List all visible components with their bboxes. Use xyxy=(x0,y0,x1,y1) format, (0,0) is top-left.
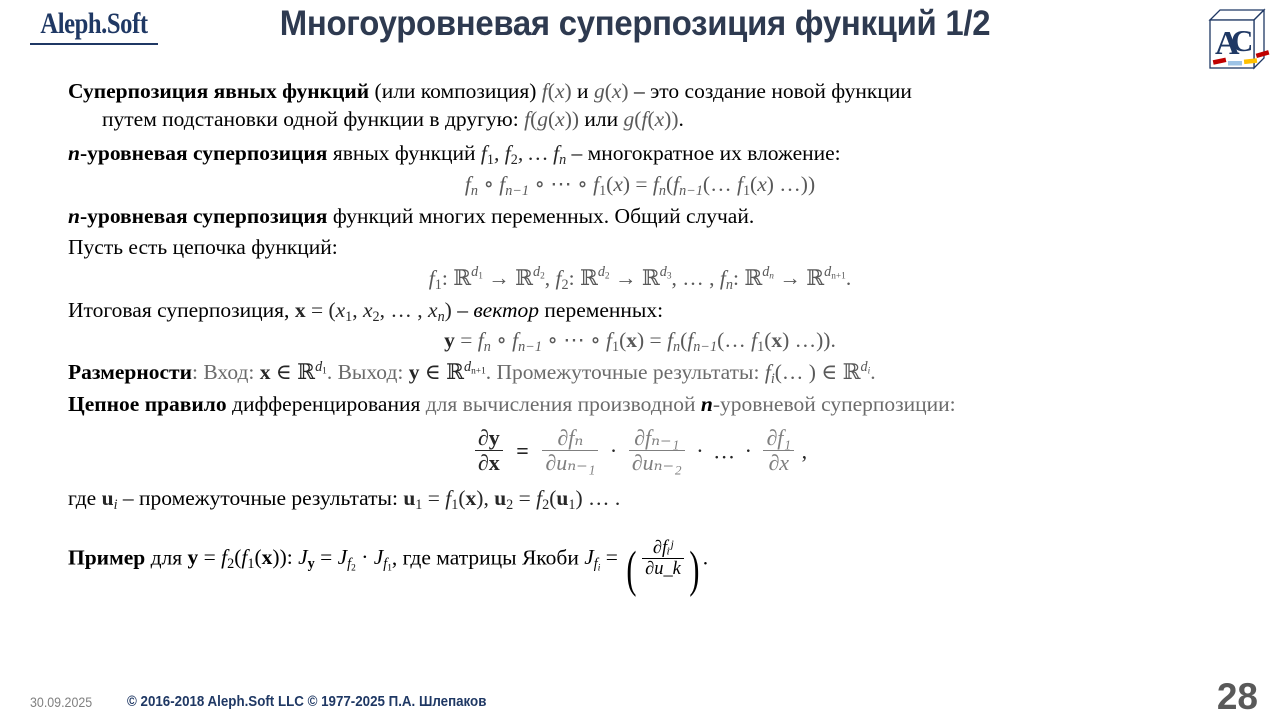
paragraph-n-level-explicit: n-уровневая суперпозиция явных функций f… xyxy=(0,140,1280,168)
p3-bold-n: n xyxy=(68,204,80,228)
p9-jacobian-fraction: ∂fᵢʲ∂u_k xyxy=(642,538,684,579)
eq4-equals: = xyxy=(510,438,535,463)
eq4-lhs-den: ∂x xyxy=(475,450,503,475)
p6-bold-lead: Размерности xyxy=(68,360,192,384)
p2-math-list: f1, f2, … fn xyxy=(481,141,566,165)
slide-footer: 30.09.2025 © 2016-2018 Aleph.Soft LLC © … xyxy=(0,676,1280,720)
p7-text-a: дифференцирования xyxy=(227,392,426,416)
p2-bold-n: n xyxy=(68,141,80,165)
equation-composition-vector: y = fn ∘ fn−1 ∘ ⋯ ∘ f1(x) = fn(fn−1(… f1… xyxy=(0,328,1280,353)
p1-bold-lead: Суперпозиция явных функций xyxy=(68,79,369,103)
p3-bold-rest: -уровневая суперпозиция xyxy=(80,204,327,228)
p9-math-jacobian-product: Jy = Jf2 · Jf1 xyxy=(298,545,392,569)
svg-text:C: C xyxy=(1231,23,1253,58)
eq4-t1-den: ∂uₙ₋₁ xyxy=(542,450,598,475)
eq3-math: y = fn ∘ fn−1 ∘ ⋯ ∘ f1(x) = fn(fn−1(… f1… xyxy=(444,328,836,352)
p6-text-d: . xyxy=(870,360,875,384)
p1-cont-text-2: или xyxy=(579,107,624,131)
p2-text-a: явных функций xyxy=(327,141,480,165)
footer-copyright: © 2016-2018 Aleph.Soft LLC © 1977-2025 П… xyxy=(127,694,486,710)
p6-text-c: . Промежуточные результаты: xyxy=(486,360,765,384)
p6-text-b: . Выход: xyxy=(327,360,409,384)
p6-math-out: y ∈ ℝdn+1 xyxy=(409,360,486,384)
p1-cont-math-1: f(g(x)) xyxy=(524,107,579,131)
p5-dash: – xyxy=(452,298,474,322)
eq4-lhs-fraction: ∂y ∂x xyxy=(475,426,503,475)
paragraph-example: Пример для y = f2(f1(x)): Jy = Jf2 · Jf1… xyxy=(0,538,1280,587)
equation-function-chain-spaces: f1: ℝd1 → ℝd2, f2: ℝd2 → ℝd3, … , fn: ℝd… xyxy=(0,266,1280,291)
p5-italic: вектор xyxy=(473,298,539,322)
eq4-t3-den: ∂x xyxy=(763,450,794,475)
p1-cont-math-2: g(f(x)) xyxy=(624,107,679,131)
paragraph-n-level-multivar: n-уровневая суперпозиция функций многих … xyxy=(0,203,1280,231)
eq4-t3-num: ∂f₁ xyxy=(763,426,794,450)
p9-math-jac-def: Jfi = xyxy=(584,545,623,569)
brand-logo-text: Aleph.Soft xyxy=(28,8,159,40)
equation-chain-rule: ∂y ∂x = ∂fₙ ∂uₙ₋₁ · ∂fₙ₋₁ ∂uₙ₋₂ · … · ∂f… xyxy=(0,426,1280,475)
p6-math-mid: fi(… ) ∈ ℝdi xyxy=(765,360,870,384)
eq4-dot-2: · xyxy=(692,438,707,463)
p9-math-y: y = f2(f1(x)): xyxy=(188,545,293,569)
eq4-term2-fraction: ∂fₙ₋₁ ∂uₙ₋₂ xyxy=(629,426,685,475)
p8-text-b: – промежуточные результаты: xyxy=(118,486,404,510)
slide-content: Суперпозиция явных функций (или композиц… xyxy=(0,78,1280,594)
eq4-t2-den: ∂uₙ₋₂ xyxy=(629,450,685,475)
eq4-dot-1: · xyxy=(606,438,621,463)
p1-text-a: (или композиция) xyxy=(369,79,542,103)
paragraph-dimensions: Размерности: Вход: x ∈ ℝd1. Выход: y ∈ ℝ… xyxy=(0,359,1280,387)
p9-frac-num: ∂fᵢʲ xyxy=(642,538,684,558)
eq4-comma: , xyxy=(802,438,808,463)
eq2-math: f1: ℝd1 → ℝd2, f2: ℝd2 → ℝd3, … , fn: ℝd… xyxy=(429,266,851,290)
eq1-math: fn ∘ fn−1 ∘ ⋯ ∘ f1(x) = fn(fn−1(… f1(x) … xyxy=(465,172,815,196)
p8-math-eq: u1 = f1(x), u2 = f2(u1) … . xyxy=(403,486,620,510)
aleph-soft-logo: Aleph.Soft xyxy=(14,8,174,45)
slide-number: 28 xyxy=(1217,676,1258,718)
page-title: Многоуровневая суперпозиция функций 1/2 xyxy=(217,4,1054,44)
p8-text-a: где xyxy=(68,486,102,510)
p9-text-a: для xyxy=(145,545,187,569)
p1-continuation: путем подстановки одной функции в другую… xyxy=(68,106,1232,134)
p6-math-in: x ∈ ℝd1 xyxy=(260,360,327,384)
eq4-t1-num: ∂fₙ xyxy=(542,426,598,450)
paragraph-chain-rule: Цепное правило дифференцирования для выч… xyxy=(0,391,1280,419)
equation-composition-1d: fn ∘ fn−1 ∘ ⋯ ∘ f1(x) = fn(fn−1(… f1(x) … xyxy=(0,172,1280,197)
p1-text-c: – это создание новой функции xyxy=(629,79,912,103)
p1-math-g: g(x) xyxy=(594,79,629,103)
p1-text-b: и xyxy=(572,79,594,103)
p7-text-c: -уровневой суперпозиции: xyxy=(713,392,956,416)
eq4-lhs-num: ∂y xyxy=(475,426,503,450)
p8-math-u: ui xyxy=(102,486,118,510)
eq4-dot-3: · xyxy=(741,438,756,463)
eq4-ellipsis: … xyxy=(713,438,735,463)
p2-text-b: – многократное их вложение: xyxy=(566,141,841,165)
paragraph-final-superposition: Итоговая суперпозиция, x = (x1, x2, … , … xyxy=(0,297,1280,325)
p7-bold-n: n xyxy=(701,392,713,416)
paragraph-chain-intro: Пусть есть цепочка функций: xyxy=(0,234,1280,262)
paragraph-superposition-def: Суперпозиция явных функций (или композиц… xyxy=(0,78,1280,133)
p3-text: функций многих переменных. Общий случай. xyxy=(327,204,754,228)
p5-text-a: Итоговая суперпозиция, xyxy=(68,298,295,322)
slide-header: Aleph.Soft Многоуровневая суперпозиция ф… xyxy=(0,0,1280,76)
ac-cube-logo: A C xyxy=(1202,2,1272,76)
p6-text-a: : Вход: xyxy=(192,360,260,384)
p7-text-b: для вычисления производной xyxy=(426,392,701,416)
p5-text-b: переменных: xyxy=(539,298,663,322)
p9-frac-den: ∂u_k xyxy=(642,558,684,579)
p2-bold-rest: -уровневая суперпозиция xyxy=(80,141,327,165)
p9-paren-open: ( xyxy=(627,551,637,587)
p7-bold-lead: Цепное правило xyxy=(68,392,227,416)
p9-text-end: . xyxy=(703,545,708,569)
ac-cube-icon: A C xyxy=(1202,2,1272,76)
footer-date: 30.09.2025 xyxy=(30,695,92,710)
p1-cont-end: . xyxy=(679,107,684,131)
p9-paren-close: ) xyxy=(689,551,699,587)
paragraph-intermediate-results: где ui – промежуточные результаты: u1 = … xyxy=(0,485,1280,513)
p1-math-f: f(x) xyxy=(542,79,572,103)
p1-cont-text: путем подстановки одной функции в другую… xyxy=(102,107,524,131)
p9-text-b: , где матрицы Якоби xyxy=(392,545,584,569)
brand-underline xyxy=(30,43,158,46)
p9-bold-lead: Пример xyxy=(68,545,145,569)
eq4-term3-fraction: ∂f₁ ∂x xyxy=(763,426,794,475)
eq4-t2-num: ∂fₙ₋₁ xyxy=(629,426,685,450)
p5-math-vector: x = (x1, x2, … , xn) xyxy=(295,298,452,322)
eq4-term1-fraction: ∂fₙ ∂uₙ₋₁ xyxy=(542,426,598,475)
